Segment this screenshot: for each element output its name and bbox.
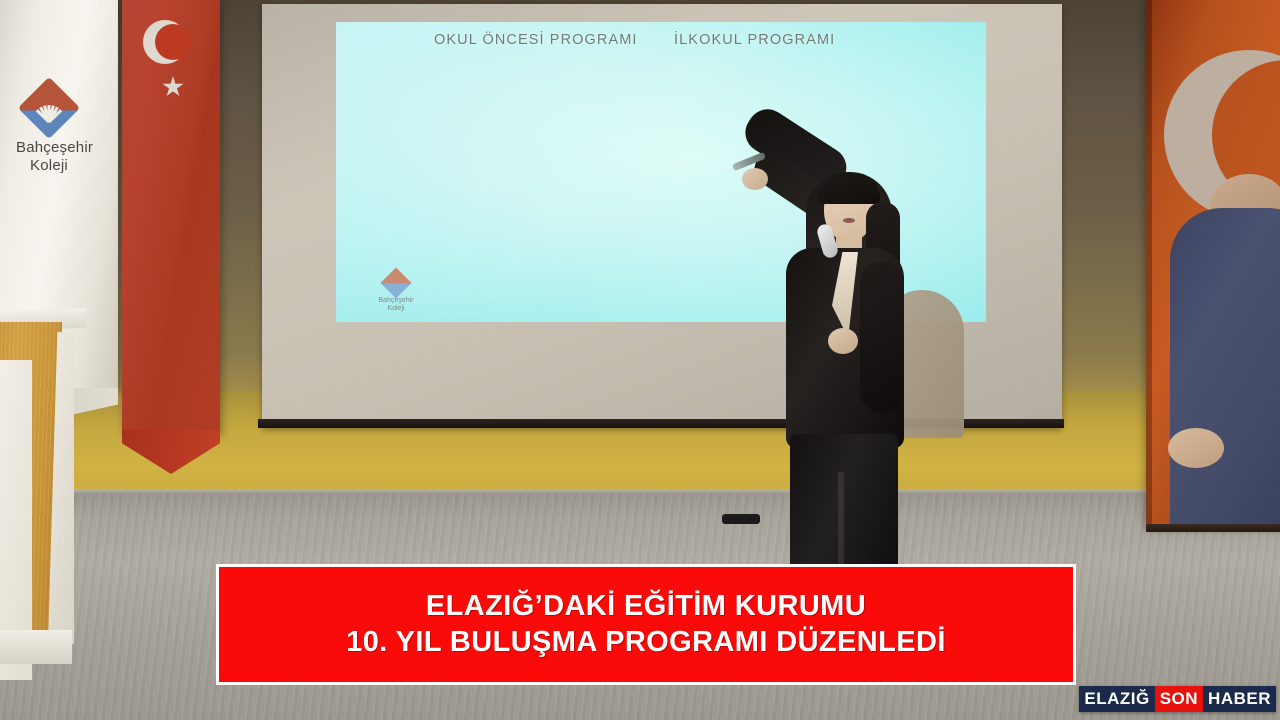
flag-sheen xyxy=(122,0,220,434)
logo-rays xyxy=(27,86,71,130)
turkish-flag-banner xyxy=(122,0,220,434)
crescent-icon xyxy=(143,20,187,64)
screenshot-root: OKUL ÖNCESİ PROGRAMI İLKOKUL PROGRAMI Ba… xyxy=(0,0,1280,720)
watermark-part-son: SON xyxy=(1155,686,1203,712)
trousers xyxy=(790,434,898,574)
ataturk-portrait-banner xyxy=(1146,0,1280,528)
watermark-part-haber: HABER xyxy=(1203,686,1276,712)
raised-hand xyxy=(742,168,768,190)
presenter-woman xyxy=(728,152,908,570)
slide-brand-line2: Koleji xyxy=(364,305,428,314)
banner-floor-line xyxy=(1146,524,1280,532)
podium-base xyxy=(0,630,72,664)
slide-heading-primary: İLKOKUL PROGRAMI xyxy=(674,32,835,48)
bahcesehir-diamond-icon xyxy=(380,267,411,298)
watermark-logo: ELAZIĞ SON HABER xyxy=(1079,686,1276,712)
bahcesehir-line1: Bahçeşehir xyxy=(16,139,82,157)
headline-line-2: 10. YIL BULUŞMA PROGRAMI DÜZENLEDİ xyxy=(346,626,946,659)
hair-front xyxy=(818,174,880,204)
portrait-suit xyxy=(1170,208,1280,528)
slide-heading-preschool: OKUL ÖNCESİ PROGRAMI xyxy=(434,32,638,48)
bahcesehir-diamond-icon xyxy=(18,77,80,139)
trouser-gap xyxy=(838,472,844,572)
bahcesehir-logo: Bahçeşehir Koleji xyxy=(16,86,82,176)
headline-line-1: ELAZIĞ’DAKİ EĞİTİM KURUMU xyxy=(426,590,866,623)
bahcesehir-line2: Koleji xyxy=(16,157,82,175)
slide-brand-logo: Bahçeşehir Koleji xyxy=(364,272,428,315)
mic-hand xyxy=(828,328,858,354)
portrait-hand xyxy=(1168,428,1224,468)
mouth xyxy=(843,218,855,223)
watermark-part-elazig: ELAZIĞ xyxy=(1079,686,1154,712)
lower-arm xyxy=(860,262,904,412)
floor-cable xyxy=(722,514,760,524)
banner-edge-shadow xyxy=(1146,0,1152,528)
news-headline-banner: ELAZIĞ’DAKİ EĞİTİM KURUMU 10. YIL BULUŞM… xyxy=(216,564,1076,685)
